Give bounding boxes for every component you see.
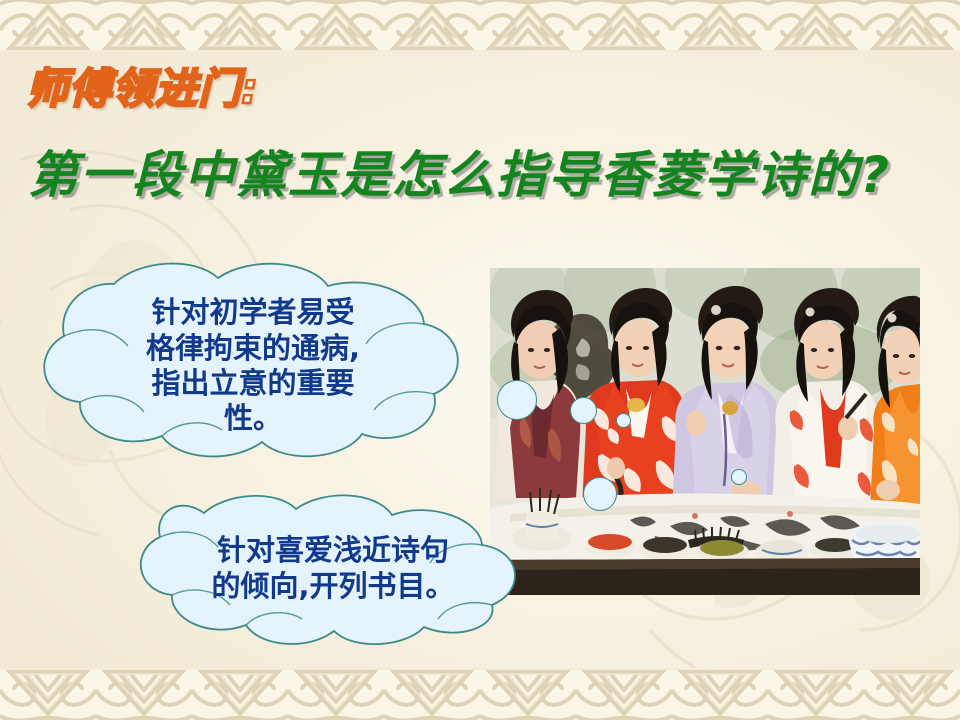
- page-title: 第一段中黛玉是怎么指导香菱学诗的?: [28, 148, 928, 203]
- cloud-1-tail-medium: [570, 397, 597, 424]
- cloud-shape-1: [18, 262, 488, 462]
- cloud-2-tail-large: [583, 477, 617, 511]
- subtitle-block: 师傅领进门:: [26, 68, 259, 110]
- thought-cloud-1: 针对初学者易受 格律拘束的通病, 指出立意的重要 性。: [18, 262, 488, 462]
- border-pattern-top: [0, 0, 960, 52]
- cloud-2-tail-small: [731, 469, 747, 485]
- border-pattern-bottom: [0, 668, 960, 720]
- cloud-1-tail-large: [497, 380, 537, 420]
- slide-canvas: 师傅领进门: 第一段中黛玉是怎么指导香菱学诗的?: [0, 0, 960, 720]
- subtitle-text: 师傅领进门:: [26, 68, 259, 110]
- cloud-1-tail-small: [616, 413, 631, 428]
- cloud-shape-2: [118, 495, 548, 630]
- thought-cloud-2: 针对喜爱浅近诗句 的倾向,开列书目。: [118, 495, 548, 630]
- illustration-photo: [490, 268, 920, 595]
- photo-content: [490, 268, 920, 595]
